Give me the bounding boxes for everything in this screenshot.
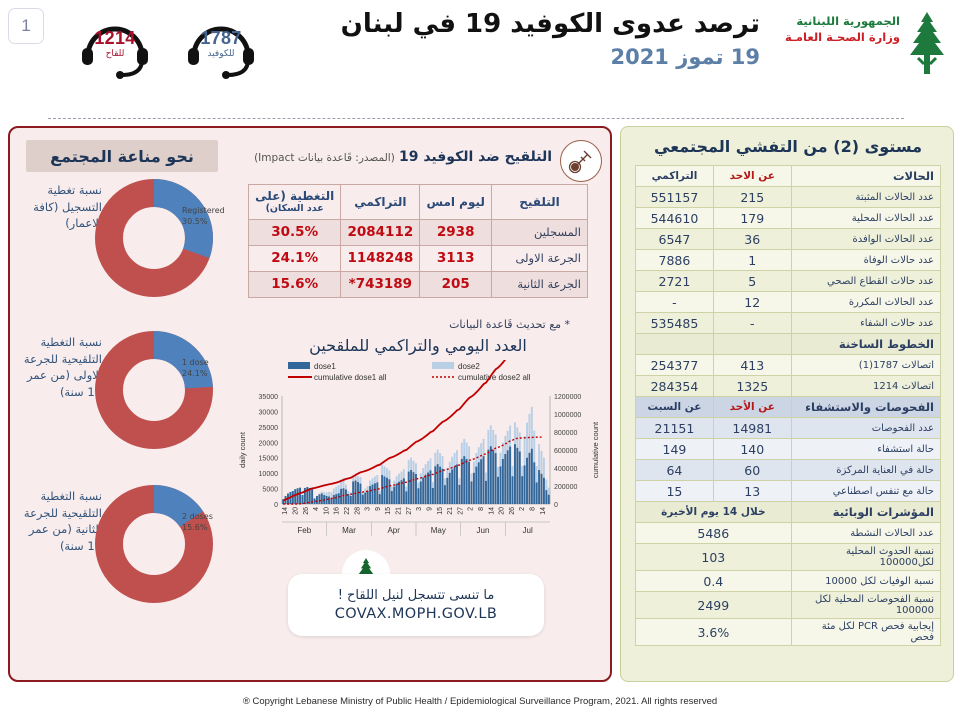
- svg-text:cumulative count: cumulative count: [591, 421, 600, 478]
- donut-registered: نسبة تغطية التسجيل (كافة الاعمار) Regist…: [14, 176, 226, 336]
- row-label: حالة في العناية المركزة: [791, 460, 940, 481]
- svg-text:Mar: Mar: [342, 526, 356, 535]
- row-label: نسبة الوفيات لكل 10000: [791, 571, 940, 592]
- row-daily: 140: [713, 439, 791, 460]
- community-stats-table: الحالات عن الاحد التراكمي عدد الحالات ال…: [635, 165, 941, 646]
- table-row: عدد الحالات المكررة 12 -: [636, 292, 941, 313]
- row-cumulative: 21151: [636, 418, 714, 439]
- hotline-label-covid: للكوفيد: [184, 48, 258, 59]
- row-daily: 12: [713, 292, 791, 313]
- row-daily: 5: [713, 271, 791, 292]
- row-label: عدد الحالات المثبتة: [791, 187, 940, 208]
- svg-text:26: 26: [303, 507, 310, 515]
- row-daily: 1325: [713, 376, 791, 397]
- syringe-icon: [560, 140, 602, 182]
- row-label: إيجابية فحص PCR لكل مئة فحص: [791, 619, 940, 646]
- row-value: 0.4: [636, 571, 792, 592]
- table-row: الجرعة الاولى 3113 1148248 24.1%: [249, 245, 588, 271]
- donut-chart-dose2: [94, 484, 214, 604]
- hotline-number-covid: 1787: [184, 28, 258, 49]
- svg-text:8: 8: [530, 507, 537, 511]
- svg-text:35000: 35000: [259, 394, 279, 401]
- table-row: اتصالات 1787(1) 413 254377: [636, 355, 941, 376]
- svg-text:16: 16: [334, 507, 341, 515]
- row-cumulative: 6547: [636, 229, 714, 250]
- svg-text:10000: 10000: [259, 471, 279, 478]
- syringe-glyph: [568, 148, 594, 174]
- row-cumulative: *743189: [341, 271, 420, 297]
- indicators-header-period: خلال 14 يوم الأخيرة: [636, 502, 792, 523]
- donut-label-dose1: نسبة التغطية التلقيحية للجرعة الاولى (من…: [16, 334, 102, 401]
- row-label: عدد الفحوصات: [791, 418, 940, 439]
- ministry-logo: الجمهورية اللبنانية وزارة الصحـة العامـة: [766, 8, 952, 82]
- svg-text:27: 27: [406, 507, 413, 515]
- table-row: حالة في العناية المركزة 60 64: [636, 460, 941, 481]
- indicators-section-header: المؤشرات الوبائية خلال 14 يوم الأخيرة: [636, 502, 941, 523]
- hotlines-header-blank1: [713, 334, 791, 355]
- svg-text:14: 14: [282, 507, 289, 515]
- table-row: اتصالات 1214 1325 284354: [636, 376, 941, 397]
- svg-text:1200000: 1200000: [554, 394, 581, 401]
- footer-copyright: ® Copyright Lebanese Ministry of Public …: [0, 696, 960, 707]
- svg-text:3: 3: [416, 507, 423, 511]
- table-row: المسجلين 2938 2084112 30.5%: [249, 219, 588, 245]
- col-cumulative: التراكمي: [341, 185, 420, 220]
- herd-immunity-title: نحو مناعة المجتمع: [26, 140, 218, 172]
- row-label: عدد حالات الوفاة: [791, 250, 940, 271]
- table-row: حالة مع تنفس اصطناعي 13 15: [636, 481, 941, 502]
- table-header-row: التلقيح ليوم امس التراكمي التغطية (على ع…: [249, 185, 588, 220]
- svg-text:28: 28: [354, 507, 361, 515]
- donut-dose2: نسبة التغطية التلقيحية للجرعة الثانية (م…: [14, 482, 226, 642]
- row-cumulative: 1148248: [341, 245, 420, 271]
- svg-text:dose2: dose2: [458, 362, 480, 371]
- row-label: الجرعة الاولى: [492, 245, 588, 271]
- row-label: عدد حالات الشفاء: [791, 313, 940, 334]
- table-row: نسبة الحدوث المحلية لكل100000 103: [636, 544, 941, 571]
- row-yesterday: 2938: [420, 219, 492, 245]
- row-cumulative: 535485: [636, 313, 714, 334]
- svg-text:daily count: daily count: [238, 431, 247, 468]
- vaccination-title-source: (المصدر: قَاعدة بيانات Impact): [254, 152, 395, 164]
- row-daily: 36: [713, 229, 791, 250]
- table-row: حالة استشفاء 140 149: [636, 439, 941, 460]
- vaccination-title: التلقيح ضد الكوفيد 19 (المصدر: قَاعدة بي…: [252, 148, 552, 167]
- chart-svg: dose1dose2cumulative dose1 allcumulative…: [236, 360, 604, 550]
- table-row: عدد حالات القطاع الصحي 5 2721: [636, 271, 941, 292]
- row-cumulative: 2721: [636, 271, 714, 292]
- svg-text:2: 2: [468, 507, 475, 511]
- svg-text:20: 20: [499, 507, 506, 515]
- table-row: إيجابية فحص PCR لكل مئة فحص 3.6%: [636, 619, 941, 646]
- chart-title: العدد اليومي والتراكمي للملقحين: [226, 336, 610, 355]
- ministry-line1: الجمهورية اللبنانية: [770, 14, 900, 28]
- ministry-line2: وزارة الصحـة العامـة: [770, 30, 900, 44]
- svg-text:20000: 20000: [259, 440, 279, 447]
- svg-text:0: 0: [554, 502, 558, 509]
- svg-text:27: 27: [457, 507, 464, 515]
- row-label: نسبة الحدوث المحلية لكل100000: [791, 544, 940, 571]
- row-cumulative: 15: [636, 481, 714, 502]
- table-row: عدد الحالات الوافدة 36 6547: [636, 229, 941, 250]
- row-daily: 1: [713, 250, 791, 271]
- row-daily: 14981: [713, 418, 791, 439]
- row-cumulative: 2084112: [341, 219, 420, 245]
- hotline-number-vaccine: 1214: [78, 28, 152, 49]
- vaccination-table: التلقيح ليوم امس التراكمي التغطية (على ع…: [248, 184, 588, 298]
- svg-text:May: May: [431, 526, 446, 535]
- row-label: عدد حالات القطاع الصحي: [791, 271, 940, 292]
- svg-text:9: 9: [427, 507, 434, 511]
- svg-text:1000000: 1000000: [554, 412, 581, 419]
- indicators-header: المؤشرات الوبائية: [791, 502, 940, 523]
- row-value: 3.6%: [636, 619, 792, 646]
- svg-text:Jul: Jul: [523, 526, 533, 535]
- svg-text:10: 10: [323, 507, 330, 515]
- row-label: نسبة الفحوصات المحلية لكل 100000: [791, 592, 940, 619]
- svg-text:15000: 15000: [259, 456, 279, 463]
- row-cumulative: 284354: [636, 376, 714, 397]
- table-row: عدد الحالات المحلية 179 544610: [636, 208, 941, 229]
- row-label: اتصالات 1214: [791, 376, 940, 397]
- covax-arabic-text: ما تنسى تتسجل لنيل اللقاح !: [338, 588, 495, 603]
- svg-text:dose1: dose1: [314, 362, 336, 371]
- row-yesterday: 3113: [420, 245, 492, 271]
- row-label: اتصالات 1787(1): [791, 355, 940, 376]
- row-label: عدد الحالات المكررة: [791, 292, 940, 313]
- svg-text:30000: 30000: [259, 409, 279, 416]
- svg-text:21: 21: [396, 507, 403, 515]
- svg-text:22: 22: [344, 507, 351, 515]
- col-vaccine: التلقيح: [492, 185, 588, 220]
- svg-text:3: 3: [365, 507, 372, 511]
- herd-immunity-column: نحو مناعة المجتمع نسبة تغطية التسجيل (كا…: [14, 132, 226, 676]
- vaccination-chart: dose1dose2cumulative dose1 allcumulative…: [236, 360, 604, 550]
- donut-label-dose2: نسبة التغطية التلقيحية للجرعة الثانية (م…: [16, 488, 102, 555]
- svg-text:5000: 5000: [262, 487, 278, 494]
- row-cumulative: 7886: [636, 250, 714, 271]
- svg-text:26: 26: [509, 507, 516, 515]
- row-daily: 179: [713, 208, 791, 229]
- vaccination-panel: نحو مناعة المجتمع نسبة تغطية التسجيل (كا…: [8, 126, 612, 682]
- col-yesterday: ليوم امس: [420, 185, 492, 220]
- row-label: عدد الحالات الوافدة: [791, 229, 940, 250]
- svg-text:14: 14: [488, 507, 495, 515]
- svg-text:20: 20: [293, 507, 300, 515]
- hotlines-header: الخطوط الساخنة: [791, 334, 940, 355]
- tests-header-daily: عن الأحد: [713, 397, 791, 418]
- row-cumulative: 551157: [636, 187, 714, 208]
- table-row: نسبة الوفيات لكل 10000 0.4: [636, 571, 941, 592]
- row-label: حالة مع تنفس اصطناعي: [791, 481, 940, 502]
- table-row: عدد الحالات المثبتة 215 551157: [636, 187, 941, 208]
- tests-header: الفحوصات والاستشفاء: [791, 397, 940, 418]
- community-title: مستوى (2) من التفشي المجتمعي: [621, 137, 955, 156]
- row-label: عدد الحالات المحلية: [791, 208, 940, 229]
- cases-header-label: الحالات: [791, 166, 940, 187]
- page-number-badge: 1: [8, 8, 44, 44]
- hotline-label-vaccine: للقاح: [78, 48, 152, 59]
- row-daily: 60: [713, 460, 791, 481]
- row-label: المسجلين: [492, 219, 588, 245]
- cases-header-row: الحالات عن الاحد التراكمي: [636, 166, 941, 187]
- donut-chart-registered: [94, 178, 214, 298]
- table-row: الجرعة الثانية 205 *743189 15.6%: [249, 271, 588, 297]
- svg-text:cumulative dose1 all: cumulative dose1 all: [314, 373, 387, 382]
- hotlines-header-blank2: [636, 334, 714, 355]
- svg-text:800000: 800000: [554, 430, 577, 437]
- table-row: نسبة الفحوصات المحلية لكل 100000 2499: [636, 592, 941, 619]
- row-cumulative: 544610: [636, 208, 714, 229]
- svg-text:21: 21: [447, 507, 454, 515]
- row-label: حالة استشفاء: [791, 439, 940, 460]
- row-yesterday: 205: [420, 271, 492, 297]
- cases-header-cumulative: التراكمي: [636, 166, 714, 187]
- tests-section-header: الفحوصات والاستشفاء عن الأحد عن السبت: [636, 397, 941, 418]
- donut-chart-dose1: [94, 330, 214, 450]
- vaccination-column: التلقيح ضد الكوفيد 19 (المصدر: قَاعدة بي…: [226, 132, 610, 680]
- svg-text:200000: 200000: [554, 484, 577, 491]
- svg-text:15: 15: [385, 507, 392, 515]
- svg-text:Feb: Feb: [297, 526, 311, 535]
- row-daily: -: [713, 313, 791, 334]
- svg-text:600000: 600000: [554, 448, 577, 455]
- svg-text:2: 2: [519, 507, 526, 511]
- covax-url[interactable]: COVAX.MOPH.GOV.LB: [335, 606, 498, 622]
- row-coverage: 15.6%: [249, 271, 341, 297]
- row-label: الجرعة الثانية: [492, 271, 588, 297]
- page-title: ترصد عدوى الكوفيد 19 في لبنان 19 تموز 20…: [290, 8, 760, 70]
- row-cumulative: 64: [636, 460, 714, 481]
- header-divider: [48, 118, 904, 119]
- svg-text:15: 15: [437, 507, 444, 515]
- row-value: 103: [636, 544, 792, 571]
- row-value: 2499: [636, 592, 792, 619]
- svg-text:Apr: Apr: [387, 526, 400, 535]
- svg-text:cumulative dose2 all: cumulative dose2 all: [458, 373, 531, 382]
- row-coverage: 24.1%: [249, 245, 341, 271]
- row-coverage: 30.5%: [249, 219, 341, 245]
- title-arabic: ترصد عدوى الكوفيد 19 في لبنان: [290, 8, 760, 41]
- svg-text:0: 0: [274, 502, 278, 509]
- row-daily: 13: [713, 481, 791, 502]
- table-row: عدد الفحوصات 14981 21151: [636, 418, 941, 439]
- svg-text:Jun: Jun: [477, 526, 490, 535]
- tests-header-cumulative: عن السبت: [636, 397, 714, 418]
- row-cumulative: 149: [636, 439, 714, 460]
- row-cumulative: -: [636, 292, 714, 313]
- infographic-page: 1 1214 للقاح 1787 للكوفيد ترصد عدوى الكو…: [0, 0, 960, 720]
- row-daily: 215: [713, 187, 791, 208]
- table-row: عدد حالات الشفاء - 535485: [636, 313, 941, 334]
- col-coverage: التغطية (على عدد السكان): [249, 185, 341, 220]
- row-value: 5486: [636, 523, 792, 544]
- table-row: عدد الحالات النشطة 5486: [636, 523, 941, 544]
- svg-text:4: 4: [313, 507, 320, 511]
- cases-header-daily: عن الاحد: [713, 166, 791, 187]
- donut-dose1: نسبة التغطية التلقيحية للجرعة الاولى (من…: [14, 328, 226, 488]
- svg-text:25000: 25000: [259, 425, 279, 432]
- vaccination-note: * مع تحديث قَاعدة البيانات: [449, 318, 570, 331]
- row-daily: 413: [713, 355, 791, 376]
- hotlines-section-header: الخطوط الساخنة: [636, 334, 941, 355]
- cedar-icon: [904, 10, 950, 76]
- svg-text:400000: 400000: [554, 466, 577, 473]
- community-panel: مستوى (2) من التفشي المجتمعي الحالات عن …: [620, 126, 954, 682]
- table-row: عدد حالات الوفاة 1 7886: [636, 250, 941, 271]
- covax-card[interactable]: ما تنسى تتسجل لنيل اللقاح ! COVAX.MOPH.G…: [288, 574, 544, 636]
- page-number-text: 1: [21, 16, 30, 36]
- vaccination-title-bold: التلقيح ضد الكوفيد 19: [399, 149, 552, 165]
- svg-text:9: 9: [375, 507, 382, 511]
- svg-text:8: 8: [478, 507, 485, 511]
- row-cumulative: 254377: [636, 355, 714, 376]
- row-label: عدد الحالات النشطة: [791, 523, 940, 544]
- title-date: 19 تموز 2021: [290, 45, 760, 70]
- donut-label-registered: نسبة تغطية التسجيل (كافة الاعمار): [16, 182, 102, 232]
- svg-text:14: 14: [540, 507, 547, 515]
